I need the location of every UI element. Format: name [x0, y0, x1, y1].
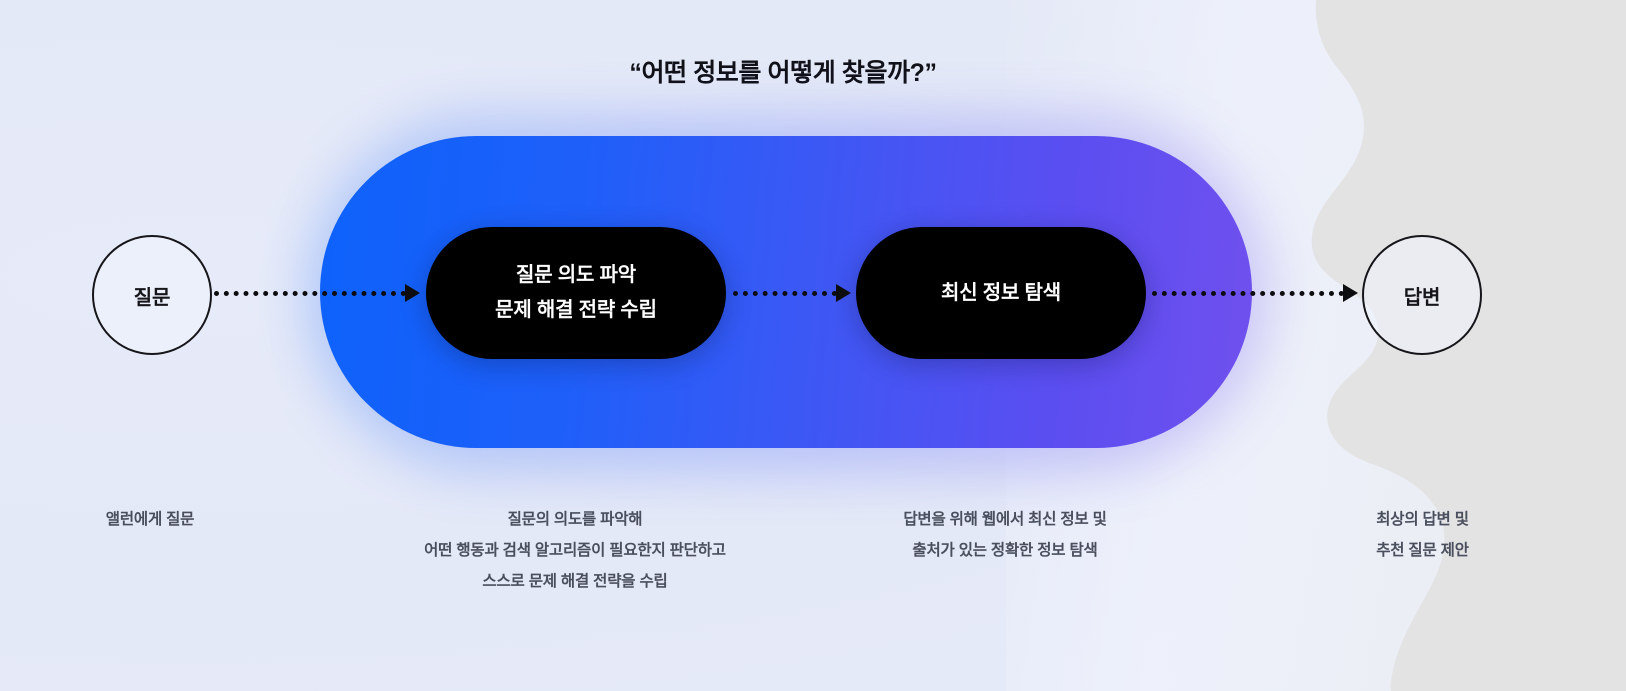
caption-answer: 최상의 답변 및 추천 질문 제안: [1310, 504, 1535, 566]
stage-box-line: 최신 정보 탐색: [941, 276, 1061, 311]
endpoint-answer: 답변: [1362, 235, 1482, 355]
endpoint-question: 질문: [92, 235, 212, 355]
arrow-stage2-to-answer: [1152, 285, 1358, 301]
caption-line: 스스로 문제 해결 전략을 수립: [330, 566, 820, 597]
caption-question: 앨런에게 질문: [40, 504, 260, 535]
caption-line: 추천 질문 제안: [1310, 535, 1535, 566]
caption-information-search: 답변을 위해 웹에서 최신 정보 및 출처가 있는 정확한 정보 탐색: [845, 504, 1165, 566]
caption-line: 앨런에게 질문: [40, 504, 260, 535]
page-title: “어떤 정보를 어떻게 찾을까?”: [0, 53, 1566, 89]
arrow-head-icon: [1343, 284, 1358, 302]
caption-line: 질문의 의도를 파악해: [330, 504, 820, 535]
arrow-line: [214, 291, 406, 296]
caption-intent-analysis: 질문의 의도를 파악해 어떤 행동과 검색 알고리즘이 필요한지 판단하고 스스…: [330, 504, 820, 597]
arrow-line: [733, 291, 837, 296]
arrow-question-to-stage1: [214, 285, 420, 301]
caption-line: 어떤 행동과 검색 알고리즘이 필요한지 판단하고: [330, 535, 820, 566]
arrow-stage1-to-stage2: [733, 285, 851, 301]
arrow-head-icon: [836, 284, 851, 302]
stage-box-intent-analysis: 질문 의도 파악 문제 해결 전략 수립: [426, 227, 726, 359]
stage-box-line: 질문 의도 파악: [516, 258, 636, 293]
caption-line: 답변을 위해 웹에서 최신 정보 및: [845, 504, 1165, 535]
endpoint-question-label: 질문: [134, 281, 170, 310]
infographic-canvas: “어떤 정보를 어떻게 찾을까?” 질문 답변 질문 의도 파악 문제 해결 전…: [0, 0, 1626, 691]
stage-box-line: 문제 해결 전략 수립: [495, 293, 657, 328]
caption-line: 출처가 있는 정확한 정보 탐색: [845, 535, 1165, 566]
arrow-line: [1152, 291, 1344, 296]
arrow-head-icon: [405, 284, 420, 302]
endpoint-answer-label: 답변: [1404, 281, 1440, 310]
stage-box-information-search: 최신 정보 탐색: [856, 227, 1146, 359]
caption-line: 최상의 답변 및: [1310, 504, 1535, 535]
